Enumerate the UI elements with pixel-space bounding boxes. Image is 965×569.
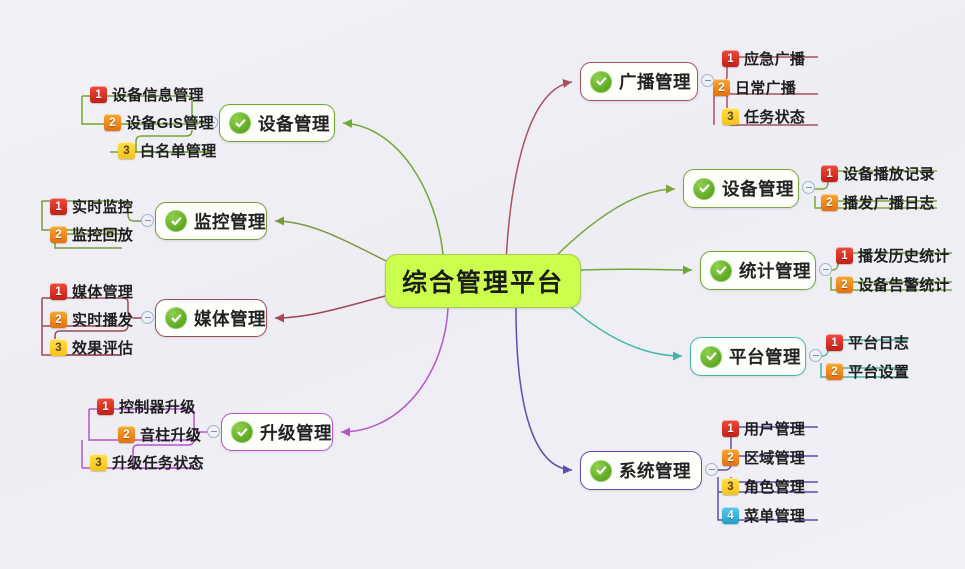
- leaf-item-label: 菜单管理: [744, 505, 805, 526]
- collapse-minus-icon-platform-management[interactable]: [809, 349, 822, 362]
- leaf-item-label: 任务状态: [744, 106, 805, 127]
- leaf-index-badge: 2: [118, 426, 135, 443]
- leaf-item-label: 效果评估: [72, 337, 133, 358]
- leaf-item[interactable]: 3升级任务状态: [90, 452, 204, 475]
- connector-monitor-management: [275, 221, 390, 263]
- leaf-item-label: 应急广播: [744, 48, 805, 69]
- connector-upgrade-management: [341, 308, 448, 432]
- collapse-minus-icon-statistics-management[interactable]: [819, 263, 832, 276]
- leaf-item-label: 监控回放: [72, 224, 133, 245]
- leaf-index-badge: 1: [836, 247, 853, 264]
- leaf-item-label: 设备信息管理: [112, 84, 204, 105]
- leaf-item-label: 设备GIS管理: [126, 112, 214, 133]
- leaf-index-badge: 4: [722, 507, 739, 524]
- leaf-item-label: 设备播放记录: [843, 163, 935, 184]
- check-circle-icon: [231, 421, 253, 443]
- leaf-item[interactable]: 2平台设置: [826, 361, 909, 384]
- leaf-item-label: 白名单管理: [140, 140, 217, 161]
- leaf-item-label: 用户管理: [744, 418, 805, 439]
- leaf-item-label: 音柱升级: [140, 424, 201, 445]
- leaf-item[interactable]: 2监控回放: [50, 224, 133, 247]
- leaf-index-badge: 1: [50, 198, 67, 215]
- branch-node-label: 设备管理: [722, 176, 794, 201]
- leaf-item-label: 实时播发: [72, 309, 133, 330]
- leaf-item[interactable]: 3角色管理: [722, 476, 805, 499]
- check-circle-icon: [693, 178, 715, 200]
- leaf-item-label: 平台设置: [848, 361, 909, 382]
- leaf-item[interactable]: 1用户管理: [722, 418, 805, 441]
- leaf-item[interactable]: 2实时播发: [50, 309, 133, 332]
- leaf-item[interactable]: 1媒体管理: [50, 281, 133, 304]
- leaf-item-label: 角色管理: [744, 476, 805, 497]
- leaf-index-badge: 1: [722, 50, 739, 67]
- leaf-item[interactable]: 2设备GIS管理: [104, 112, 214, 135]
- branch-node-label: 平台管理: [729, 344, 801, 369]
- leaf-index-badge: 2: [826, 363, 843, 380]
- leaf-index-badge: 1: [97, 398, 114, 415]
- connector-platform-management: [563, 300, 682, 356]
- leaf-index-badge: 3: [118, 142, 135, 159]
- leaf-item[interactable]: 2日常广播: [713, 77, 796, 100]
- branch-node-label: 统计管理: [739, 258, 811, 283]
- leaf-item[interactable]: 2区域管理: [722, 447, 805, 470]
- leaf-index-badge: 2: [821, 194, 838, 211]
- connector-system-management: [516, 308, 572, 470]
- leaf-item-label: 升级任务状态: [112, 452, 204, 473]
- branch-node-device-management-left[interactable]: 设备管理: [219, 104, 335, 142]
- check-circle-icon: [700, 346, 722, 368]
- leaf-index-badge: 2: [104, 114, 121, 131]
- check-circle-icon: [165, 307, 187, 329]
- branch-node-label: 设备管理: [258, 111, 330, 136]
- check-circle-icon: [590, 460, 612, 482]
- leaf-item[interactable]: 1平台日志: [826, 332, 909, 355]
- mindmap-canvas: 综合管理平台 设备管理1设备信息管理2设备GIS管理3白名单管理监控管理1实时监…: [0, 0, 965, 569]
- branch-node-label: 监控管理: [194, 209, 266, 234]
- leaf-index-badge: 1: [722, 420, 739, 437]
- branch-node-platform-management[interactable]: 平台管理: [690, 337, 806, 376]
- check-circle-icon: [229, 112, 251, 134]
- leaf-item[interactable]: 1控制器升级: [97, 396, 196, 419]
- leaf-item[interactable]: 4菜单管理: [722, 505, 805, 528]
- leaf-item[interactable]: 2设备告警统计: [836, 274, 950, 297]
- branch-node-monitor-management[interactable]: 监控管理: [155, 202, 267, 240]
- collapse-minus-icon-media-management[interactable]: [141, 311, 154, 324]
- leaf-index-badge: 3: [90, 454, 107, 471]
- branch-node-system-management[interactable]: 系统管理: [580, 451, 702, 490]
- leaf-index-badge: 3: [722, 108, 739, 125]
- collapse-minus-icon-upgrade-management[interactable]: [207, 425, 220, 438]
- leaf-item-label: 媒体管理: [72, 281, 133, 302]
- branch-node-label: 系统管理: [619, 458, 691, 483]
- leaf-item-label: 日常广播: [735, 77, 796, 98]
- leaf-index-badge: 1: [826, 334, 843, 351]
- leaf-index-badge: 2: [722, 449, 739, 466]
- leaf-item[interactable]: 1设备播放记录: [821, 163, 935, 186]
- leaf-item[interactable]: 1设备信息管理: [90, 84, 204, 107]
- leaf-item-label: 播发广播日志: [843, 192, 935, 213]
- leaf-index-badge: 2: [50, 226, 67, 243]
- leaf-index-badge: 1: [50, 283, 67, 300]
- leaf-item-label: 播发历史统计: [858, 245, 950, 266]
- check-circle-icon: [165, 210, 187, 232]
- connector-statistics-management: [581, 269, 692, 270]
- leaf-item[interactable]: 1应急广播: [722, 48, 805, 71]
- leaf-item-label: 区域管理: [744, 447, 805, 468]
- leaf-item[interactable]: 2音柱升级: [118, 424, 201, 447]
- leaf-index-badge: 3: [722, 478, 739, 495]
- leaf-item-label: 控制器升级: [119, 396, 196, 417]
- branch-node-upgrade-management[interactable]: 升级管理: [221, 413, 333, 451]
- connector-media-management: [275, 295, 389, 318]
- leaf-item[interactable]: 1播发历史统计: [836, 245, 950, 268]
- connector-device-management-left: [343, 123, 443, 254]
- branch-node-label: 升级管理: [260, 420, 332, 445]
- collapse-minus-icon-system-management[interactable]: [705, 463, 718, 476]
- branch-node-broadcast-management[interactable]: 广播管理: [580, 62, 698, 101]
- leaf-item[interactable]: 3效果评估: [50, 337, 133, 360]
- leaf-index-badge: 2: [713, 79, 730, 96]
- leaf-index-badge: 1: [90, 86, 107, 103]
- leaf-item-label: 实时监控: [72, 196, 133, 217]
- leaf-item[interactable]: 2播发广播日志: [821, 192, 935, 215]
- leaf-index-badge: 2: [50, 311, 67, 328]
- leaf-item[interactable]: 3白名单管理: [118, 140, 217, 163]
- branch-node-device-management-right[interactable]: 设备管理: [683, 169, 799, 208]
- center-node[interactable]: 综合管理平台: [385, 254, 581, 308]
- check-circle-icon: [710, 260, 732, 282]
- leaf-index-badge: 2: [836, 276, 853, 293]
- center-node-label: 综合管理平台: [402, 263, 564, 299]
- leaf-index-badge: 1: [821, 165, 838, 182]
- leaf-item-label: 设备告警统计: [858, 274, 950, 295]
- branch-node-statistics-management[interactable]: 统计管理: [700, 251, 816, 290]
- leaf-item[interactable]: 3任务状态: [722, 106, 805, 129]
- connector-device-management-right: [556, 189, 675, 256]
- leaf-item-label: 平台日志: [848, 332, 909, 353]
- branch-node-media-management[interactable]: 媒体管理: [155, 299, 267, 337]
- leaf-index-badge: 3: [50, 339, 67, 356]
- check-circle-icon: [590, 71, 612, 93]
- collapse-minus-icon-monitor-management[interactable]: [141, 214, 154, 227]
- collapse-minus-icon-device-management-right[interactable]: [802, 181, 815, 194]
- leaf-item[interactable]: 1实时监控: [50, 196, 133, 219]
- branch-node-label: 媒体管理: [194, 306, 266, 331]
- branch-node-label: 广播管理: [619, 69, 691, 94]
